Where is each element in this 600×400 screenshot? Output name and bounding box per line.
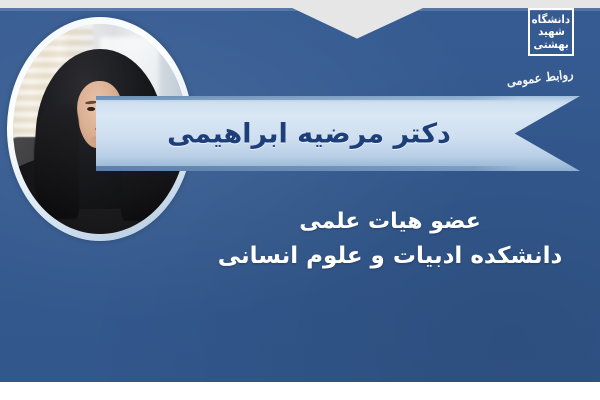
subtitle-line-position: عضو هیات علمی xyxy=(200,206,580,239)
university-logo-word-3: بهشتی xyxy=(533,39,568,50)
profile-banner-canvas: دکتر مرضیه ابراهیمی عضو هیات علمی دانشکد… xyxy=(0,0,600,400)
subtitle-line-faculty: دانشکده ادبیات و علوم انسانی xyxy=(200,239,580,273)
person-name: دکتر مرضیه ابراهیمی xyxy=(96,118,580,149)
name-ribbon-bottom-edge xyxy=(96,166,580,171)
university-logo: دانشگاه شهید بهشتی روابط عمومی xyxy=(488,6,592,86)
university-logo-word-1: دانشگاه xyxy=(532,14,570,25)
portrait-hijab-drape-left xyxy=(34,104,79,220)
name-ribbon: دکتر مرضیه ابراهیمی xyxy=(96,96,580,171)
name-ribbon-top-edge xyxy=(96,96,580,100)
university-logo-word-2: شهید xyxy=(538,26,565,37)
portrait-eye-left xyxy=(87,107,96,112)
university-logo-mark: دانشگاه شهید بهشتی xyxy=(528,8,574,56)
subtitle-block: عضو هیات علمی دانشکده ادبیات و علوم انسا… xyxy=(200,206,580,273)
